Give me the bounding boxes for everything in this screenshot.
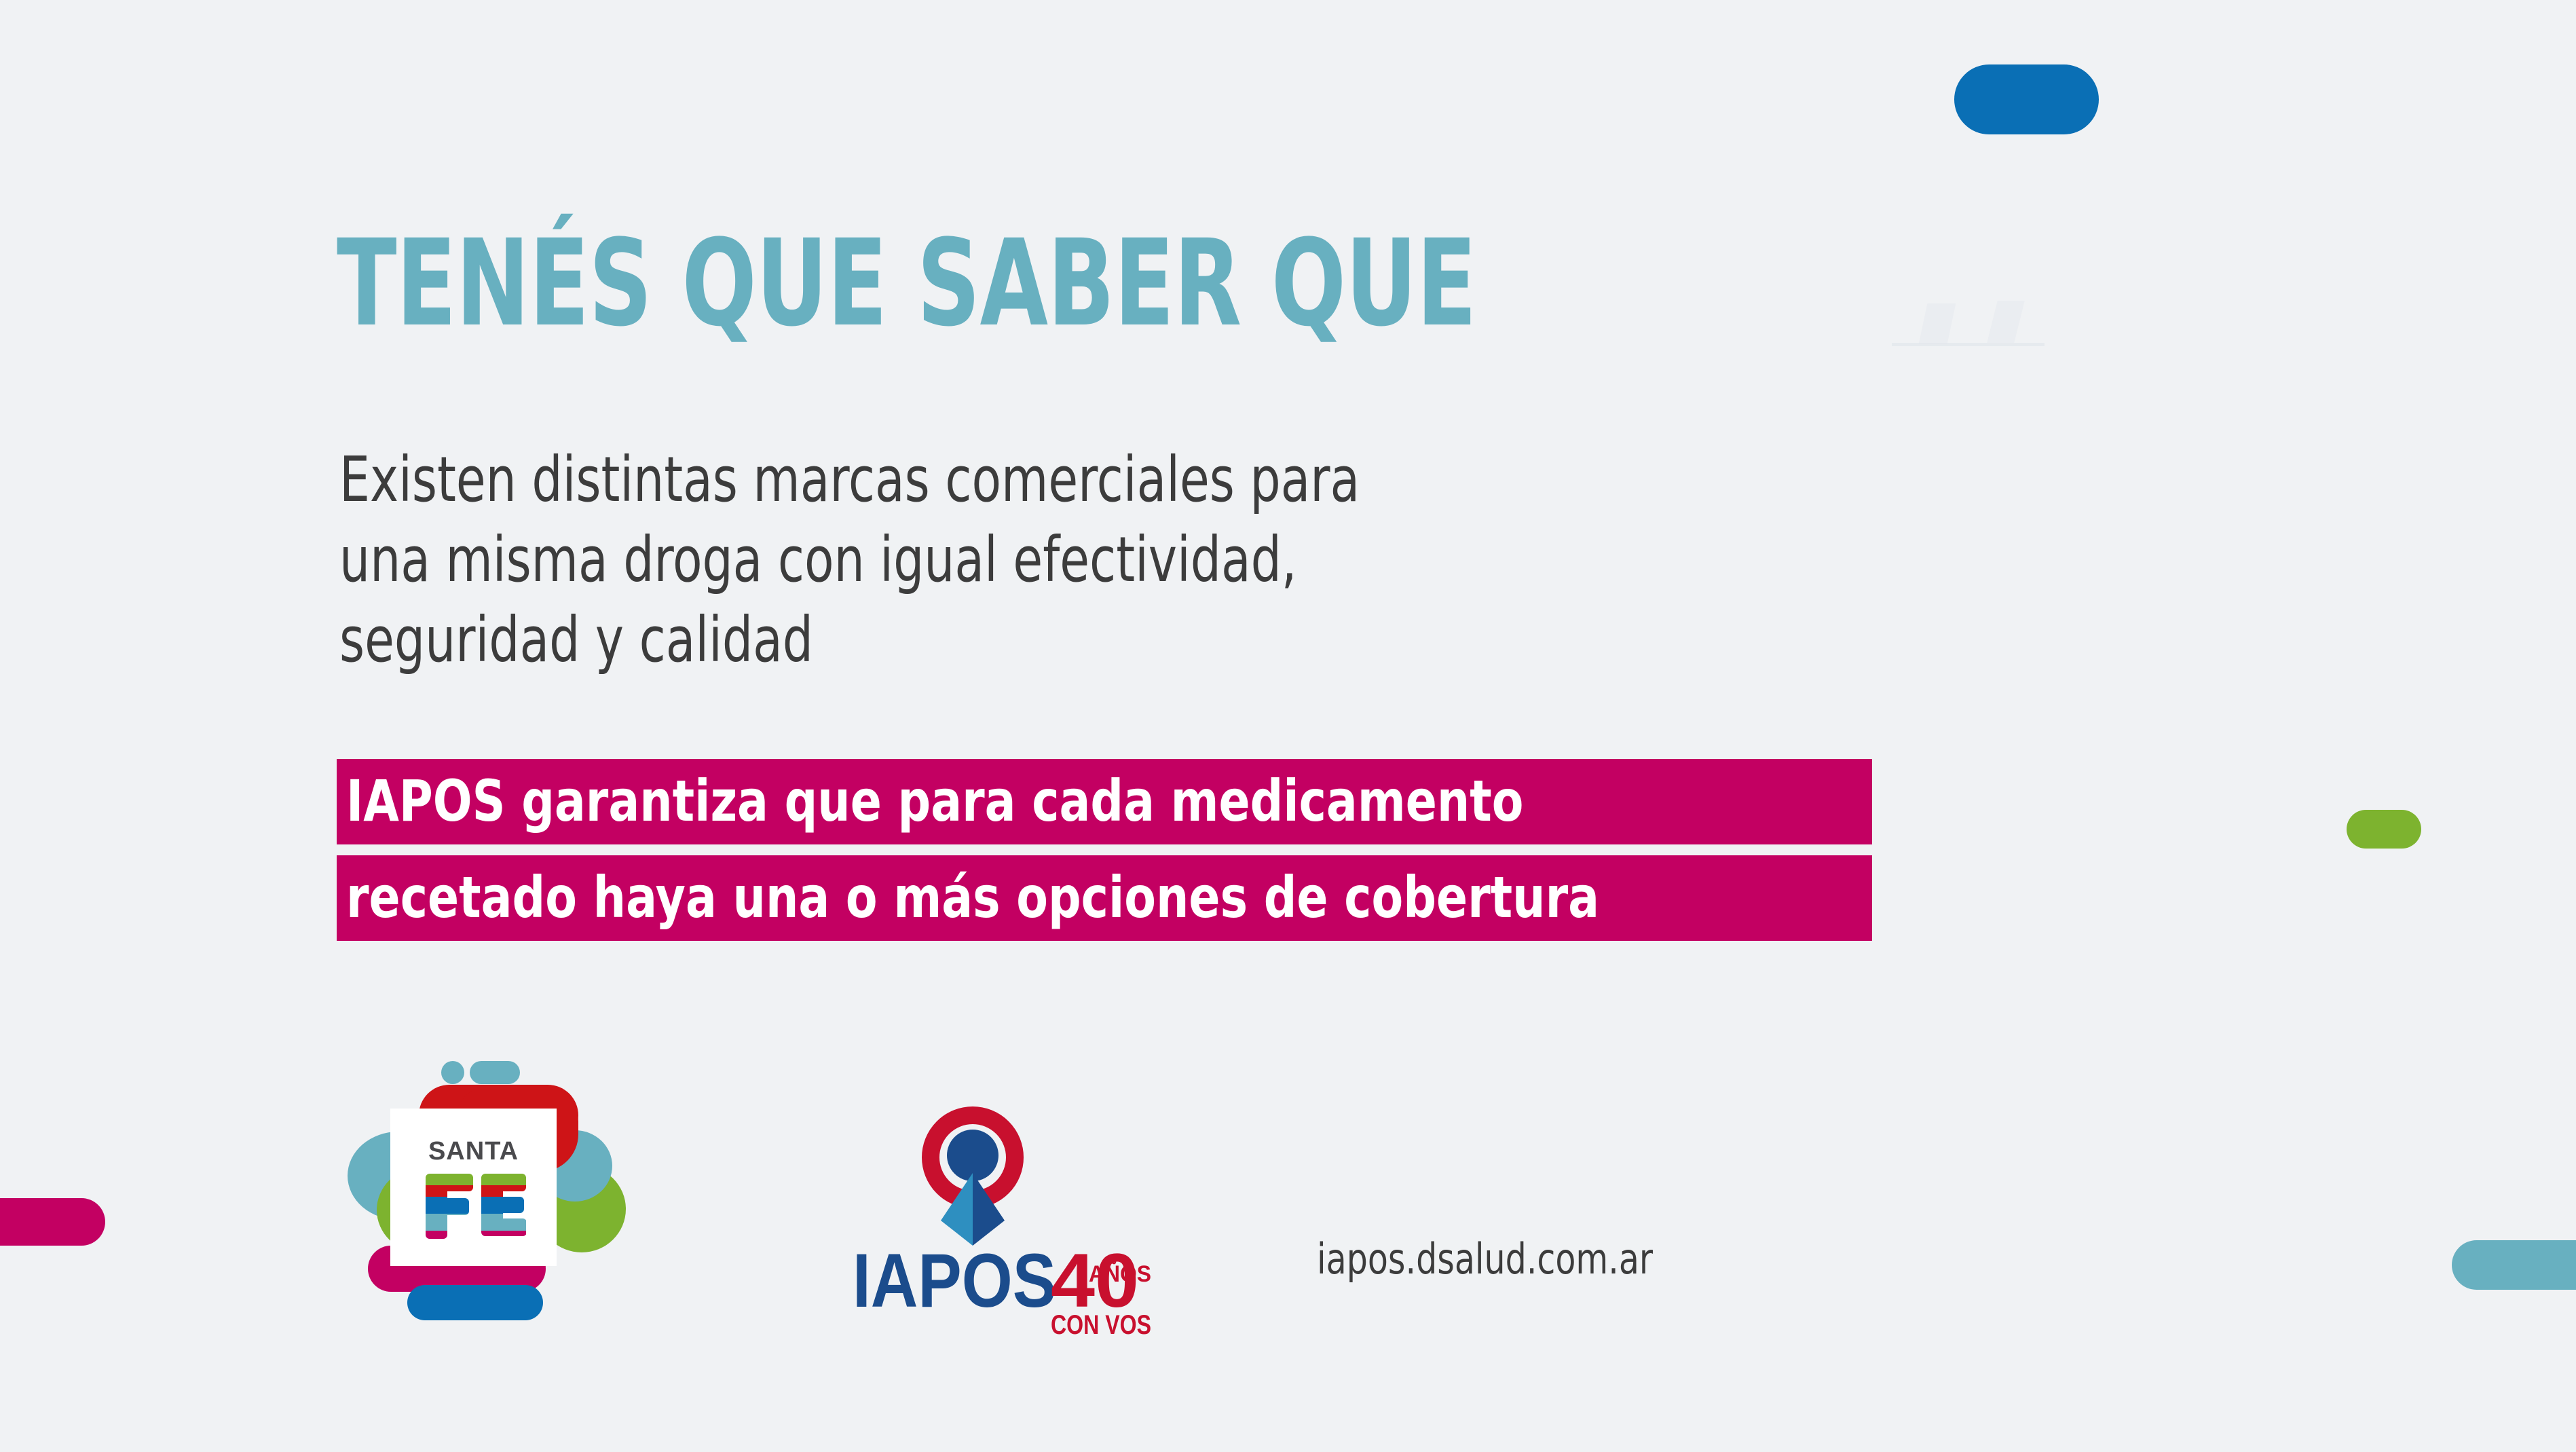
highlight-text-1: IAPOS garantiza que para cada medicament… — [346, 772, 1524, 830]
sf-wordmark-santa: SANTA — [428, 1137, 519, 1166]
page-title: TENÉS QUE SABER QUE — [337, 224, 1476, 343]
website-url[interactable]: iapos.dsalud.com.ar — [1317, 1234, 1653, 1284]
highlight-text-2: recetado haya una o más opciones de cobe… — [346, 869, 1599, 926]
decoration-pill-green — [2347, 810, 2421, 849]
poster-canvas: TENÉS QUE SABER QUE Existen distintas ma… — [0, 0, 2576, 1452]
santa-fe-logo: SANTA — [339, 1049, 624, 1341]
decoration-ghost-shape-b — [1987, 301, 2024, 343]
iapos-logo: IAPOS 40 AÑOS CON VOS — [847, 1100, 1159, 1337]
decoration-ghost-line — [1892, 343, 2045, 346]
sf-dot-teal — [441, 1061, 464, 1084]
highlight-bar-1: IAPOS garantiza que para cada medicament… — [337, 759, 1872, 844]
sf-wordmark-fe — [424, 1174, 526, 1239]
sf-white-card: SANTA — [390, 1109, 557, 1266]
svg-text:AÑOS: AÑOS — [1089, 1261, 1151, 1287]
svg-text:CON VOS: CON VOS — [1051, 1310, 1151, 1337]
decoration-pill-teal — [2452, 1240, 2576, 1290]
decoration-pill-magenta — [0, 1198, 105, 1246]
body-line-2: una misma droga con igual efectividad, — [339, 520, 1157, 600]
body-line-3: seguridad y calidad — [339, 600, 1157, 680]
decoration-pill-blue — [1954, 64, 2099, 134]
decoration-ghost-shape-a — [1919, 303, 1956, 344]
highlight-bar-2: recetado haya una o más opciones de cobe… — [337, 855, 1872, 941]
sf-blob-blue — [407, 1285, 543, 1320]
iapos-icon — [931, 1115, 1015, 1246]
sf-pill-teal — [470, 1061, 520, 1084]
svg-text:IAPOS: IAPOS — [853, 1238, 1056, 1323]
body-line-1: Existen distintas marcas comerciales par… — [339, 440, 1157, 520]
highlight-callout: IAPOS garantiza que para cada medicament… — [337, 759, 1872, 941]
body-paragraph: Existen distintas marcas comerciales par… — [339, 440, 1157, 680]
